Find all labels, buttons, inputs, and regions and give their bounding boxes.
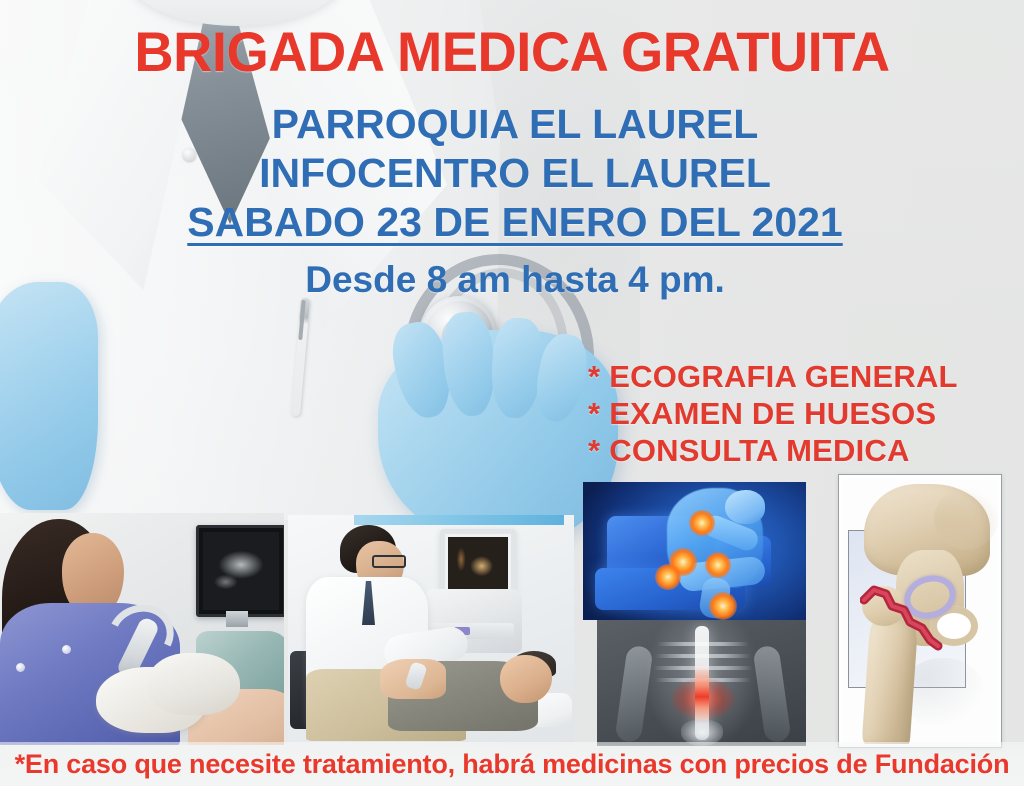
pain-point-icon	[655, 564, 681, 590]
photo-top-band	[354, 515, 564, 525]
eyeglasses-icon	[372, 555, 406, 568]
femur-fracture-line	[860, 584, 950, 652]
asterisk-icon: *	[588, 432, 600, 469]
event-venue-line-1: PARROQUIA EL LAUREL	[120, 100, 910, 149]
scrub-button-icon	[16, 663, 25, 672]
patient-head	[500, 655, 552, 703]
pain-point-icon	[709, 592, 737, 620]
photo-sonographer-ultrasound	[0, 513, 284, 745]
ultrasound-monitor-icon	[196, 525, 284, 617]
gloved-hand	[148, 653, 240, 715]
event-venue-line-2: INFOCENTRO EL LAUREL	[120, 149, 910, 198]
scrub-button-icon	[62, 645, 71, 654]
photo-inner-frame	[842, 478, 998, 744]
footnote-text: *En caso que necesite tratamiento, habrá…	[0, 748, 1024, 780]
service-label: CONSULTA MEDICA	[609, 433, 909, 468]
medical-campaign-poster: BRIGADA MEDICA GRATUITA PARROQUIA EL LAU…	[0, 0, 1024, 786]
monitor-stand	[226, 611, 248, 627]
services-list: *ECOGRAFIA GENERAL *EXAMEN DE HUESOS *CO…	[588, 358, 958, 469]
pelvis-bone-fade	[934, 488, 998, 550]
service-label: EXAMEN DE HUESOS	[609, 396, 936, 431]
pain-point-icon	[689, 510, 715, 536]
event-info-block: PARROQUIA EL LAUREL INFOCENTRO EL LAUREL…	[120, 100, 910, 305]
service-item: *CONSULTA MEDICA	[588, 432, 958, 469]
service-item: *EXAMEN DE HUESOS	[588, 395, 958, 432]
asterisk-icon: *	[588, 358, 600, 395]
photo-hip-femur-anatomy	[838, 474, 1002, 748]
human-figure-head	[725, 490, 765, 524]
event-date-line: SABADO 23 DE ENERO DEL 2021	[120, 198, 910, 247]
asterisk-icon: *	[588, 395, 600, 432]
pain-point-icon	[705, 552, 731, 578]
poster-headline: BRIGADA MEDICA GRATUITA	[15, 22, 1008, 82]
service-label: ECOGRAFIA GENERAL	[609, 359, 957, 394]
service-item: *ECOGRAFIA GENERAL	[588, 358, 958, 395]
photo-spine-xray	[597, 620, 806, 746]
event-hours-line: Desde 8 am hasta 4 pm.	[120, 255, 910, 305]
photo-doctor-abdominal-ultrasound	[288, 515, 574, 745]
photo-joint-pain-illustration	[583, 482, 806, 620]
